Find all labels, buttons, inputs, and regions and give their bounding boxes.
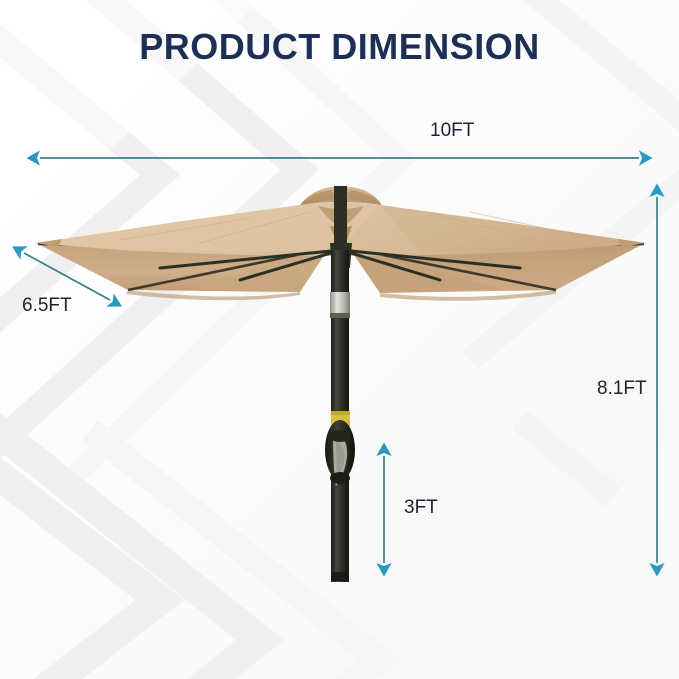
dimension-label-width: 10FT <box>430 120 474 142</box>
dimension-label-height: 8.1FT <box>597 378 647 400</box>
dimension-arrows-layer <box>0 0 679 679</box>
dimension-label-depth: 6.5FT <box>22 295 72 317</box>
dimension-arrow-depth <box>24 253 110 300</box>
page-title: PRODUCT DIMENSION <box>0 26 679 68</box>
product-dimension-infographic: PRODUCT DIMENSION <box>0 0 679 679</box>
dimension-label-pole: 3FT <box>404 497 438 519</box>
